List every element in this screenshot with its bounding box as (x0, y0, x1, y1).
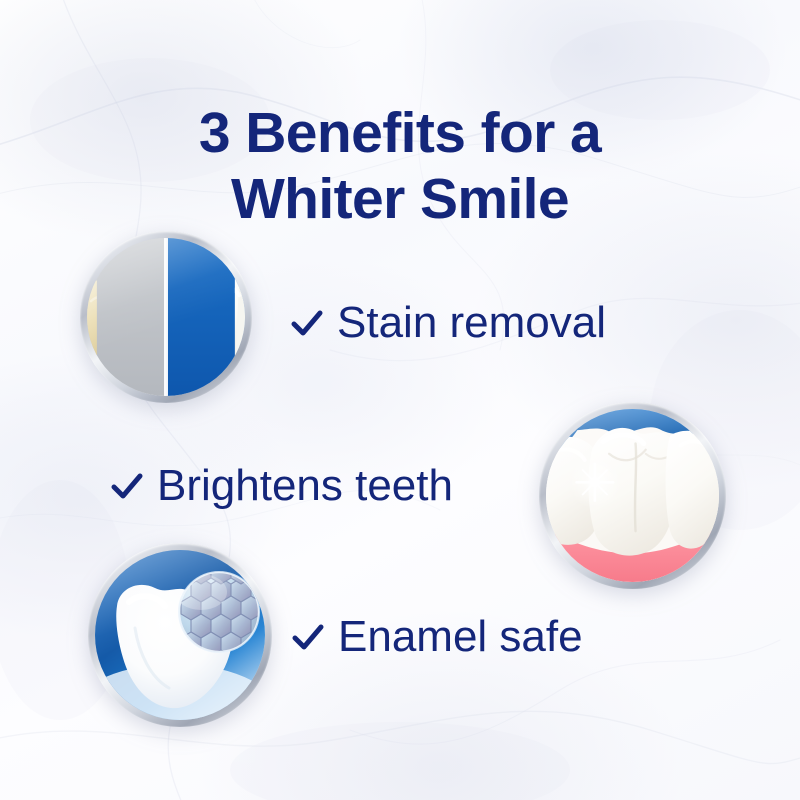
medallion-face (95, 550, 265, 720)
benefit-label-brightens-teeth: Brightens teeth (157, 461, 453, 511)
check-icon (291, 620, 325, 654)
title-line-1: 3 Benefits for a (0, 100, 800, 166)
check-icon (110, 469, 144, 503)
benefit-image-enamel-safe (88, 543, 272, 727)
benefit-row-brightens-teeth: Brightens teeth (110, 461, 453, 511)
check-icon (290, 306, 324, 340)
title-line-2: Whiter Smile (0, 166, 800, 232)
benefit-label-enamel-safe: Enamel safe (338, 612, 583, 662)
medallion-face (546, 409, 719, 582)
medallion-face (87, 238, 245, 396)
benefits-infographic: 3 Benefits for a Whiter Smile (0, 0, 800, 800)
benefit-label-stain-removal: Stain removal (337, 298, 606, 348)
page-title: 3 Benefits for a Whiter Smile (0, 100, 800, 232)
benefit-image-brightens-teeth (539, 402, 726, 589)
benefit-image-stain-removal (80, 231, 252, 403)
benefit-row-stain-removal: Stain removal (290, 298, 606, 348)
benefit-row-enamel-safe: Enamel safe (291, 612, 583, 662)
